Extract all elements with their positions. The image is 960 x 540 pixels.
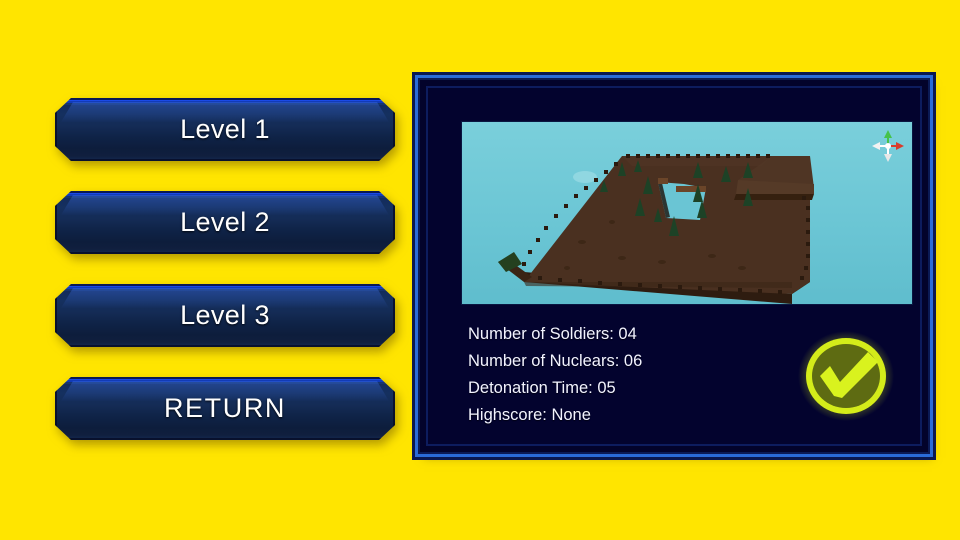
stat-highscore: Highscore: None	[468, 402, 768, 429]
button-face	[55, 377, 395, 440]
check-icon	[796, 330, 896, 422]
level-complete-check-badge	[796, 330, 896, 422]
level-stats: Number of Soldiers: 04 Number of Nuclear…	[468, 321, 768, 429]
menu-button-level-2[interactable]: Level 2	[55, 191, 395, 254]
stat-detonation: Detonation Time: 05	[468, 375, 768, 402]
preview-render	[462, 122, 912, 304]
button-face	[55, 284, 395, 347]
level-info-panel: Number of Soldiers: 04 Number of Nuclear…	[420, 80, 928, 452]
menu-button-level-1[interactable]: Level 1	[55, 98, 395, 161]
button-face	[55, 191, 395, 254]
level-menu: Level 1 Level 2 Level 3 RETURN	[55, 98, 395, 440]
menu-button-return[interactable]: RETURN	[55, 377, 395, 440]
stat-soldiers: Number of Soldiers: 04	[468, 321, 768, 348]
level-preview-3d	[462, 122, 912, 304]
button-face	[55, 98, 395, 161]
stat-nuclears: Number of Nuclears: 06	[468, 348, 768, 375]
menu-button-level-3[interactable]: Level 3	[55, 284, 395, 347]
panel-inner-frame: Number of Soldiers: 04 Number of Nuclear…	[426, 86, 922, 446]
